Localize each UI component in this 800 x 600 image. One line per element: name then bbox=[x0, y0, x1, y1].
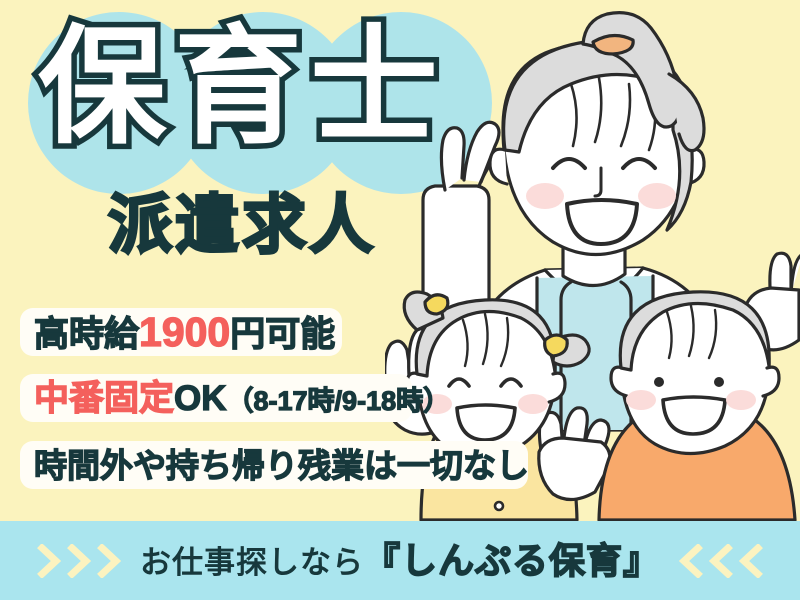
bullet-text-overtime: 時間外や持ち帰り残業は一切なし bbox=[34, 449, 529, 482]
chevron-right-icon bbox=[96, 544, 122, 578]
banner-lead: お仕事探しなら bbox=[140, 547, 364, 578]
banner-brand: しんぷる保育 bbox=[401, 543, 623, 579]
bullet-pill-overtime: 時間外や持ち帰り残業は一切なし bbox=[20, 441, 528, 489]
page-title: 保育士 bbox=[38, 24, 446, 152]
chevron-left-icon bbox=[708, 544, 734, 578]
chevron-right-icon bbox=[36, 544, 62, 578]
poster-root: 保育士 派遣求人 高時給1900円可能 中番固定OK（8-17時/9-18時） … bbox=[0, 0, 800, 600]
chevron-group-right bbox=[678, 544, 764, 578]
bottom-banner: お仕事探しなら『しんぷる保育』 bbox=[0, 521, 800, 600]
page-subtitle: 派遣求人 bbox=[108, 193, 376, 257]
bullet-text-shift: 中番固定OK（8-17時/9-18時） bbox=[34, 381, 450, 416]
chevron-left-icon bbox=[738, 544, 764, 578]
bullet-pill-wage: 高時給1900円可能 bbox=[20, 308, 342, 356]
bullet-text-wage: 高時給1900円可能 bbox=[34, 312, 335, 353]
banner-tagline: お仕事探しなら『しんぷる保育』 bbox=[140, 543, 660, 579]
bullet-pill-shift: 中番固定OK（8-17時/9-18時） bbox=[20, 374, 412, 422]
chevron-left-icon bbox=[678, 544, 704, 578]
chevron-group-left bbox=[36, 544, 122, 578]
banner-brand-close: 』 bbox=[623, 543, 660, 579]
banner-brand-open: 『 bbox=[364, 543, 401, 579]
chevron-right-icon bbox=[66, 544, 92, 578]
